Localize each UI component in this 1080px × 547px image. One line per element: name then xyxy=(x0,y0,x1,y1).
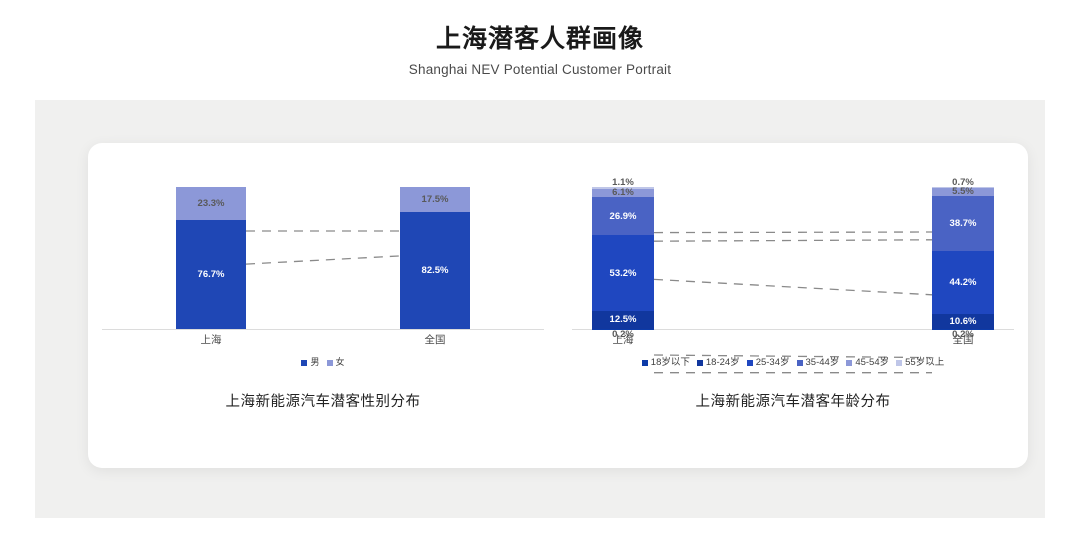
segment-18-24-shanghai[interactable]: 12.5% xyxy=(592,311,654,329)
legend-item-18-under[interactable]: 18岁以下 xyxy=(642,357,690,368)
stack-national: 0.7% 5.5% 38.7% 44.2% xyxy=(932,187,994,329)
segment-male-national[interactable]: 82.5% xyxy=(400,212,470,329)
segment-label: 76.7% xyxy=(198,269,225,280)
legend-item-55-over[interactable]: 55岁以上 xyxy=(896,357,944,368)
segment-label: 10.6% xyxy=(950,316,977,327)
segment-male-shanghai[interactable]: 76.7% xyxy=(176,220,246,329)
segment-35-44-national[interactable]: 38.7% xyxy=(932,196,994,251)
segment-label: 17.5% xyxy=(422,194,449,205)
segment-label: 38.7% xyxy=(950,218,977,229)
chart-age-bar-national[interactable]: 0.7% 5.5% 38.7% 44.2% xyxy=(932,187,994,329)
legend-swatch-18-24 xyxy=(697,360,703,366)
chart-age-legend: 18岁以下 18-24岁 25-34岁 35-44岁 xyxy=(558,357,1028,368)
legend-label: 45-54岁 xyxy=(855,357,889,368)
chart-gender-ticks: 上海 全国 xyxy=(88,333,558,349)
segment-label: 53.2% xyxy=(610,268,637,279)
legend-label: 18-24岁 xyxy=(706,357,740,368)
legend-item-25-34[interactable]: 25-34岁 xyxy=(747,357,790,368)
legend-swatch-female xyxy=(327,360,333,366)
segment-female-national[interactable]: 17.5% xyxy=(400,187,470,212)
chart-age-bar-shanghai[interactable]: 1.1% 6.1% 26.9% 53.2% xyxy=(592,187,654,329)
segment-label: 12.5% xyxy=(610,314,637,325)
legend-swatch-55-over xyxy=(896,360,902,366)
stack-shanghai: 1.1% 6.1% 26.9% 53.2% xyxy=(592,187,654,329)
segment-label: 1.1% xyxy=(592,177,654,188)
page-subtitle: Shanghai NEV Potential Customer Portrait xyxy=(0,59,1080,81)
chart-age-caption: 上海新能源汽车潜客年龄分布 xyxy=(558,391,1028,413)
chart-age: 1.1% 6.1% 26.9% 53.2% xyxy=(558,143,1028,468)
legend-label: 18岁以下 xyxy=(651,357,690,368)
legend-swatch-male xyxy=(301,360,307,366)
legend-item-female[interactable]: 女 xyxy=(327,357,345,368)
legend-label: 35-44岁 xyxy=(806,357,840,368)
legend-swatch-45-54 xyxy=(846,360,852,366)
legend-item-18-24[interactable]: 18-24岁 xyxy=(697,357,740,368)
chart-gender: 23.3% 76.7% 17.5% xyxy=(88,143,558,468)
slide-page: 上海潜客人群画像 Shanghai NEV Potential Customer… xyxy=(0,0,1080,547)
legend-item-male[interactable]: 男 xyxy=(301,357,319,368)
tick-national: 全国 xyxy=(918,333,1008,347)
segment-label: 26.9% xyxy=(610,211,637,222)
legend-label: 女 xyxy=(336,357,345,368)
legend-label: 男 xyxy=(310,357,319,368)
chart-gender-caption: 上海新能源汽车潜客性别分布 xyxy=(88,391,558,413)
tick-shanghai: 上海 xyxy=(578,333,668,347)
segment-label: 44.2% xyxy=(950,277,977,288)
tick-national: 全国 xyxy=(390,333,480,347)
segment-label: 23.3% xyxy=(198,198,225,209)
chart-gender-plot: 23.3% 76.7% 17.5% xyxy=(88,187,558,329)
chart-age-plot: 1.1% 6.1% 26.9% 53.2% xyxy=(558,187,1028,329)
segment-25-34-national[interactable]: 44.2% xyxy=(932,251,994,314)
segment-45-54-shanghai[interactable]: 6.1% xyxy=(592,189,654,198)
segment-25-34-shanghai[interactable]: 53.2% xyxy=(592,235,654,311)
chart-gender-connectors xyxy=(88,231,558,373)
legend-swatch-35-44 xyxy=(797,360,803,366)
legend-item-45-54[interactable]: 45-54岁 xyxy=(846,357,889,368)
tick-shanghai: 上海 xyxy=(166,333,256,347)
legend-label: 25-34岁 xyxy=(756,357,790,368)
segment-female-shanghai[interactable]: 23.3% xyxy=(176,187,246,220)
stack-shanghai: 23.3% 76.7% xyxy=(176,187,246,329)
page-header: 上海潜客人群画像 Shanghai NEV Potential Customer… xyxy=(0,22,1080,81)
chart-gender-axis xyxy=(102,329,544,330)
content-panel: 23.3% 76.7% 17.5% xyxy=(35,100,1045,518)
segment-label: 82.5% xyxy=(422,265,449,276)
segment-18-24-national[interactable]: 10.6% xyxy=(932,314,994,329)
chart-gender-bar-national[interactable]: 17.5% 82.5% xyxy=(400,187,470,329)
legend-label: 55岁以上 xyxy=(905,357,944,368)
charts-card: 23.3% 76.7% 17.5% xyxy=(88,143,1028,468)
legend-item-35-44[interactable]: 35-44岁 xyxy=(797,357,840,368)
segment-45-54-national[interactable]: 5.5% xyxy=(932,188,994,196)
legend-swatch-25-34 xyxy=(747,360,753,366)
chart-gender-legend: 男 女 xyxy=(88,357,558,368)
chart-gender-bar-shanghai[interactable]: 23.3% 76.7% xyxy=(176,187,246,329)
charts-row: 23.3% 76.7% 17.5% xyxy=(88,143,1028,468)
legend-swatch-18-under xyxy=(642,360,648,366)
segment-35-44-shanghai[interactable]: 26.9% xyxy=(592,197,654,235)
chart-age-ticks: 上海 全国 xyxy=(558,333,1028,349)
page-title: 上海潜客人群画像 xyxy=(0,22,1080,56)
stack-national: 17.5% 82.5% xyxy=(400,187,470,329)
